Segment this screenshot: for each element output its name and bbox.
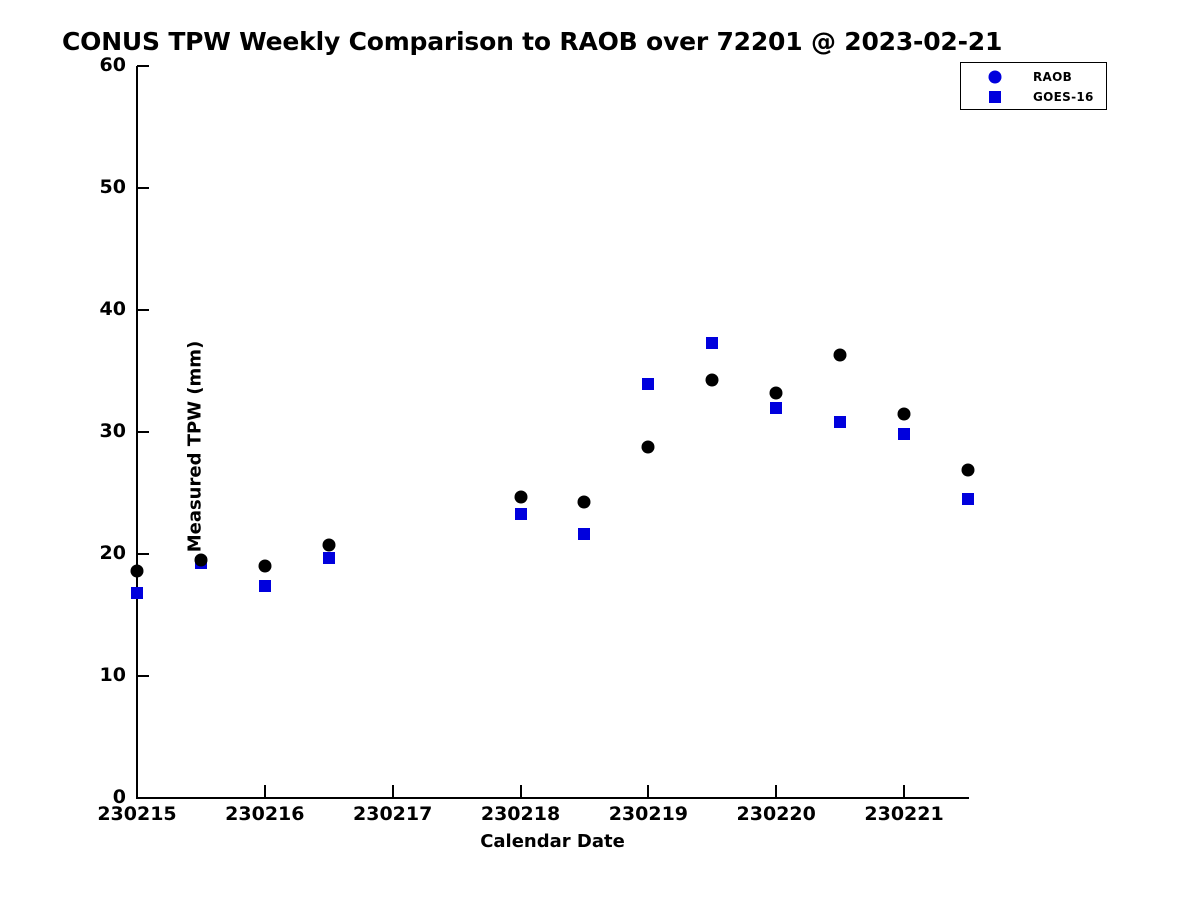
data-point-raob — [706, 373, 719, 386]
data-point-goes-16 — [834, 416, 846, 428]
data-point-raob — [258, 560, 271, 573]
data-point-goes-16 — [578, 528, 590, 540]
data-point-goes-16 — [323, 552, 335, 564]
y-tick-label: 20 — [62, 542, 126, 564]
y-axis-label: Measured TPW (mm) — [184, 341, 205, 553]
circle-marker-icon — [989, 71, 1002, 84]
data-point-raob — [578, 495, 591, 508]
data-point-raob — [834, 349, 847, 362]
y-tick-label: 10 — [62, 664, 126, 686]
x-tick-label: 230220 — [711, 803, 841, 825]
x-tick-label: 230218 — [456, 803, 586, 825]
legend-item-raob: RAOB — [961, 67, 1106, 87]
legend-label: RAOB — [1033, 70, 1072, 84]
data-point-goes-16 — [770, 402, 782, 414]
plot-area: Measured TPW (mm) — [137, 66, 968, 798]
y-tick-label: 40 — [62, 298, 126, 320]
data-point-raob — [194, 554, 207, 567]
data-point-raob — [962, 463, 975, 476]
chart-title: CONUS TPW Weekly Comparison to RAOB over… — [62, 27, 1002, 56]
data-point-raob — [514, 490, 527, 503]
data-point-goes-16 — [706, 337, 718, 349]
data-point-goes-16 — [962, 493, 974, 505]
data-point-raob — [770, 386, 783, 399]
legend-marker-wrap — [983, 67, 1007, 87]
legend-label: GOES-16 — [1033, 90, 1094, 104]
x-axis-label: Calendar Date — [0, 831, 1105, 852]
chart-legend: RAOBGOES-16 — [960, 62, 1107, 110]
data-point-raob — [898, 407, 911, 420]
square-marker-icon — [989, 91, 1001, 103]
legend-marker-wrap — [983, 87, 1007, 107]
chart-figure: CONUS TPW Weekly Comparison to RAOB over… — [0, 0, 1200, 900]
data-point-raob — [322, 539, 335, 552]
data-point-goes-16 — [131, 587, 143, 599]
x-tick-label: 230215 — [72, 803, 202, 825]
data-point-raob — [131, 565, 144, 578]
x-tick-label: 230221 — [839, 803, 969, 825]
data-point-goes-16 — [515, 508, 527, 520]
legend-item-goes-16: GOES-16 — [961, 87, 1106, 107]
y-tick-label: 30 — [62, 420, 126, 442]
x-tick-label: 230216 — [200, 803, 330, 825]
data-point-raob — [642, 440, 655, 453]
data-point-goes-16 — [642, 378, 654, 390]
x-tick-label: 230219 — [583, 803, 713, 825]
y-tick-label: 50 — [62, 176, 126, 198]
data-point-goes-16 — [898, 428, 910, 440]
data-point-goes-16 — [259, 580, 271, 592]
x-tick-label: 230217 — [328, 803, 458, 825]
y-tick-label: 60 — [62, 54, 126, 76]
